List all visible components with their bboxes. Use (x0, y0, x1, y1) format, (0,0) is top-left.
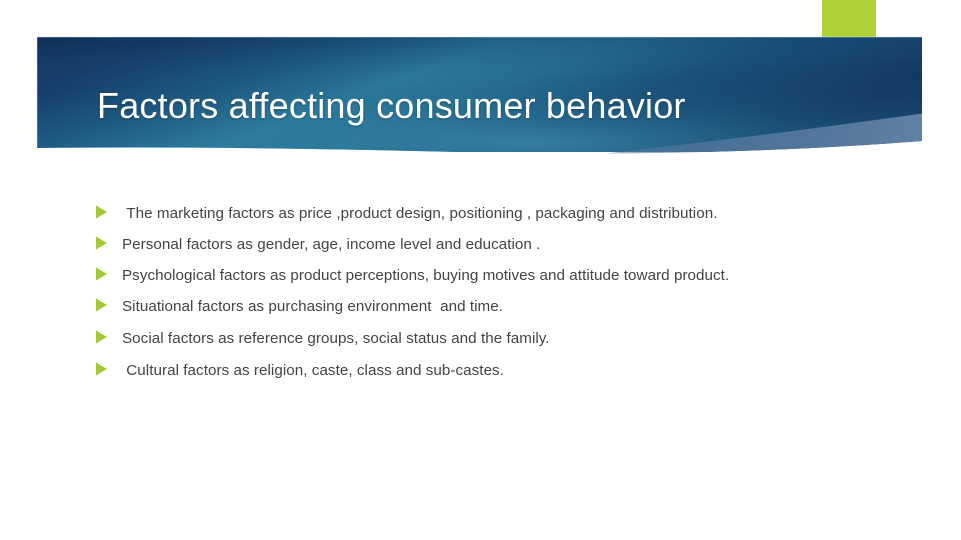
list-item: Situational factors as purchasing enviro… (95, 296, 885, 318)
list-item: Social factors as reference groups, soci… (95, 328, 885, 350)
list-item: The marketing factors as price ,product … (95, 203, 885, 225)
list-item: Psychological factors as product percept… (95, 265, 885, 287)
bullet-list: The marketing factors as price ,product … (95, 203, 885, 382)
list-item-text: Cultural factors as religion, caste, cla… (122, 360, 885, 382)
list-item-text: Psychological factors as product percept… (122, 265, 885, 287)
triangle-right-icon (95, 329, 108, 351)
list-item: Cultural factors as religion, caste, cla… (95, 360, 885, 382)
list-item-text: The marketing factors as price ,product … (122, 203, 885, 225)
triangle-right-icon (95, 266, 108, 288)
triangle-right-icon (95, 204, 108, 226)
page-title: Factors affecting consumer behavior (97, 80, 887, 132)
list-item-text: Situational factors as purchasing enviro… (122, 296, 885, 318)
triangle-right-icon (95, 235, 108, 257)
list-item-text: Social factors as reference groups, soci… (122, 328, 885, 350)
triangle-right-icon (95, 361, 108, 383)
list-item: Personal factors as gender, age, income … (95, 234, 885, 256)
list-item-text: Personal factors as gender, age, income … (122, 234, 885, 256)
title-banner: Factors affecting consumer behavior (0, 0, 961, 175)
triangle-right-icon (95, 297, 108, 319)
presentation-slide: Factors affecting consumer behavior The … (0, 0, 961, 540)
